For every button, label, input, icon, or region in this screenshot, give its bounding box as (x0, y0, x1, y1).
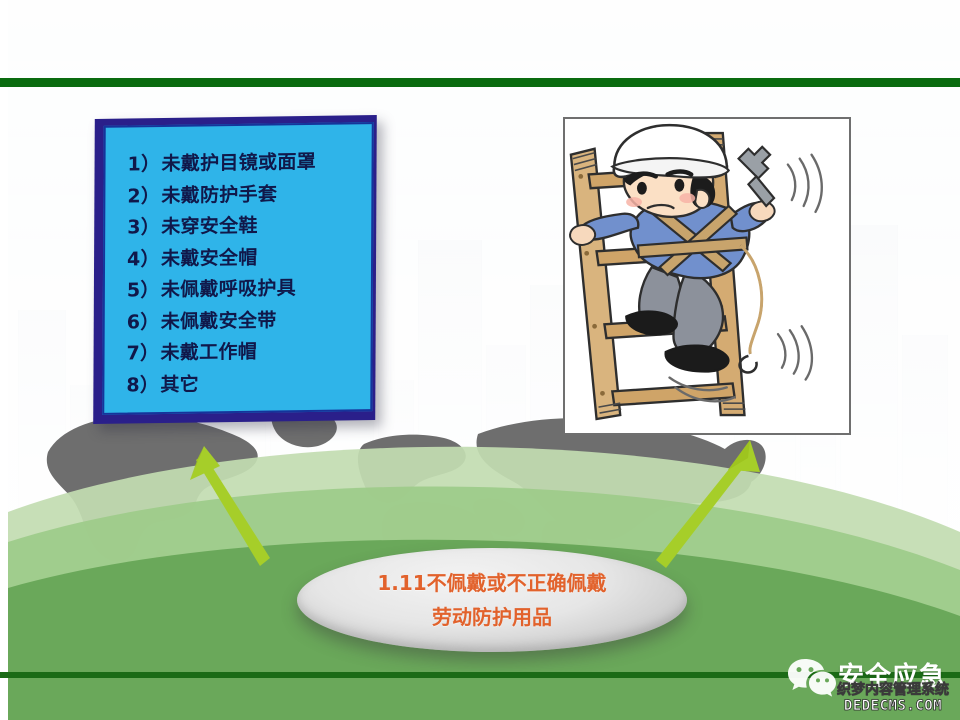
hazard-list-box: 1）未戴护目镜或面罩 2）未戴防护手套 3）未穿安全鞋 4）未戴安全帽 5）未佩… (93, 115, 377, 424)
list-item-number: 5） (127, 275, 161, 307)
list-item-label: 未戴安全帽 (161, 246, 258, 269)
dedecms-watermark: 织梦内容管理系统 DEDECMS.COM (826, 682, 960, 720)
list-item-number: 2） (127, 181, 161, 213)
watermark-line-2: DEDECMS.COM (826, 698, 960, 715)
list-item: 6）未佩戴安全带 (127, 304, 365, 339)
list-item-number: 3） (127, 212, 161, 244)
slide-canvas: 1）未戴护目镜或面罩 2）未戴防护手套 3）未穿安全鞋 4）未戴安全帽 5）未佩… (0, 0, 960, 720)
list-item-label: 未戴防护手套 (161, 183, 277, 207)
list-item-label: 未佩戴安全带 (161, 309, 277, 333)
worker-ladder-illustration (563, 117, 851, 435)
list-item: 5）未佩戴呼吸护具 (127, 272, 365, 307)
slide-stage: 1）未戴护目镜或面罩 2）未戴防护手套 3）未穿安全鞋 4）未戴安全帽 5）未佩… (8, 0, 960, 720)
list-item: 4）未戴安全帽 (127, 241, 365, 276)
list-item-number: 1） (127, 149, 161, 181)
list-item-number: 7） (126, 338, 160, 370)
list-item: 1）未戴护目镜或面罩 (127, 146, 365, 181)
callout-line-2: 劳动防护用品 (432, 600, 552, 634)
hazard-list-face: 1）未戴护目镜或面罩 2）未戴防护手套 3）未穿安全鞋 4）未戴安全帽 5）未佩… (102, 122, 374, 415)
list-item-label: 未佩戴呼吸护具 (161, 277, 296, 301)
list-item-label: 未戴护目镜或面罩 (162, 151, 317, 175)
top-green-rule (0, 78, 960, 87)
callout-line-1: 1.11不佩戴或不正确佩戴 (377, 566, 606, 600)
list-item-number: 8） (126, 370, 160, 402)
list-item-label: 未穿安全鞋 (161, 215, 258, 238)
watermark-line-1: 织梦内容管理系统 (826, 682, 960, 698)
hazard-list-items: 1）未戴护目镜或面罩 2）未戴防护手套 3）未穿安全鞋 4）未戴安全帽 5）未佩… (126, 146, 365, 401)
list-item-number: 6） (127, 307, 161, 339)
list-item: 2）未戴防护手套 (127, 178, 365, 213)
list-item: 8）其它 (126, 367, 364, 402)
callout-oval: 1.11不佩戴或不正确佩戴 劳动防护用品 (297, 548, 687, 652)
list-item-number: 4） (127, 244, 161, 276)
list-item-label: 未戴工作帽 (161, 341, 258, 364)
hazard-list-panel: 1）未戴护目镜或面罩 2）未戴防护手套 3）未穿安全鞋 4）未戴安全帽 5）未佩… (94, 117, 384, 429)
list-item: 7）未戴工作帽 (126, 335, 364, 370)
list-item: 3）未穿安全鞋 (127, 209, 365, 244)
list-item-label: 其它 (160, 373, 199, 396)
